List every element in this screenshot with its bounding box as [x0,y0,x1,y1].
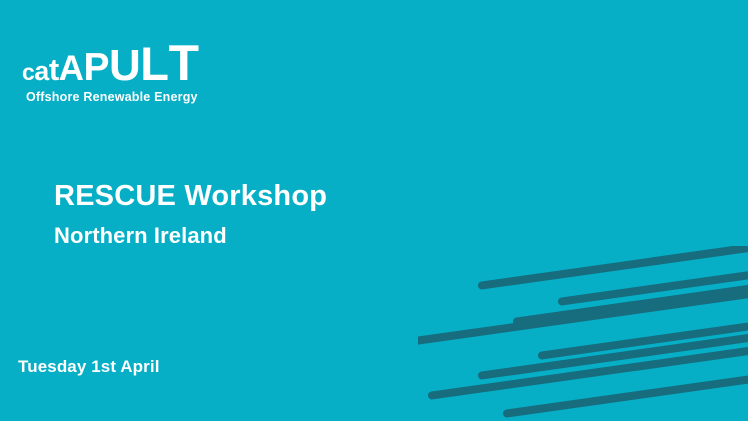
decorative-stripe [477,315,748,380]
decorative-stripe [512,270,748,326]
decorative-stripe [477,246,748,290]
logo-letter-p: P [83,48,109,87]
logo-tagline: Offshore Renewable Energy [26,90,252,104]
logo-wordmark: c a t A P U L T [22,38,252,88]
logo-letter-a2: A [59,51,84,86]
logo-letter-t: t [49,54,59,85]
logo-letter-a: a [34,58,49,85]
decorative-stripe [418,274,748,346]
decorative-stripe [502,354,748,418]
logo-letter-l: L [140,40,168,87]
logo-letter-u: U [109,44,140,88]
decorative-stripe [557,258,748,306]
headline-block: RESCUE Workshop Northern Ireland [54,180,327,249]
logo-letter-c: c [22,61,34,84]
decorative-stripe [647,246,748,266]
decorative-stripe [427,327,748,400]
page-title: RESCUE Workshop [54,180,327,213]
title-emphasis: RESCUE [54,180,176,212]
title-rest: Workshop [176,180,327,212]
page-subtitle: Northern Ireland [54,223,327,248]
logo-letter-t2: T [168,38,198,88]
brand-logo: c a t A P U L T Offshore Renewable Energ… [22,38,252,104]
diagonal-stripes-decoration [418,246,748,421]
presentation-title-slide: c a t A P U L T Offshore Renewable Energ… [0,0,748,421]
decorative-stripe [537,305,748,360]
event-date: Tuesday 1st April [18,357,160,377]
